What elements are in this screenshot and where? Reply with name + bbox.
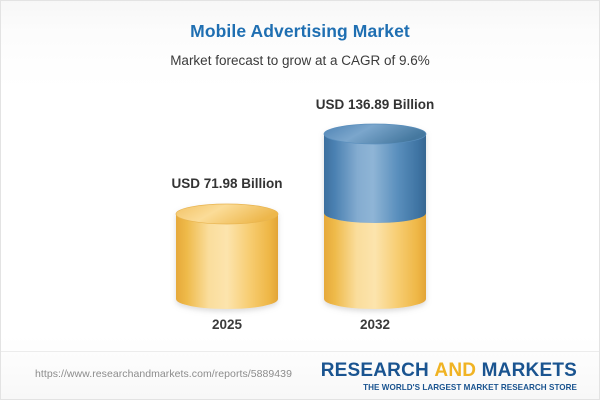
logo-word-markets: MARKETS: [482, 360, 577, 381]
footer-bar: https://www.researchandmarkets.com/repor…: [1, 351, 599, 399]
cylinder-2025-shape: [176, 204, 278, 310]
research-and-markets-logo[interactable]: RESEARCH AND MARKETS THE WORLD'S LARGEST…: [321, 361, 577, 392]
source-url[interactable]: https://www.researchandmarkets.com/repor…: [35, 368, 292, 380]
cylinder-2032-shape: [324, 124, 426, 310]
cylinder-2032: [324, 124, 426, 310]
logo-word-and: AND: [434, 360, 476, 381]
infographic-container: Mobile Advertising Market Market forecas…: [0, 0, 600, 400]
value-label-2032: USD 136.89 Billion: [295, 97, 455, 112]
value-label-2025: USD 71.98 Billion: [147, 176, 307, 191]
logo-word-research: RESEARCH: [321, 360, 429, 381]
cylinder-2025: [176, 204, 278, 310]
logo-wordmark: RESEARCH AND MARKETS: [321, 361, 577, 380]
chart-plot-area: USD 71.98 Billion: [1, 1, 600, 353]
category-label-2032: 2032: [295, 317, 455, 332]
category-label-2025: 2025: [147, 317, 307, 332]
logo-tagline: THE WORLD'S LARGEST MARKET RESEARCH STOR…: [321, 380, 577, 392]
